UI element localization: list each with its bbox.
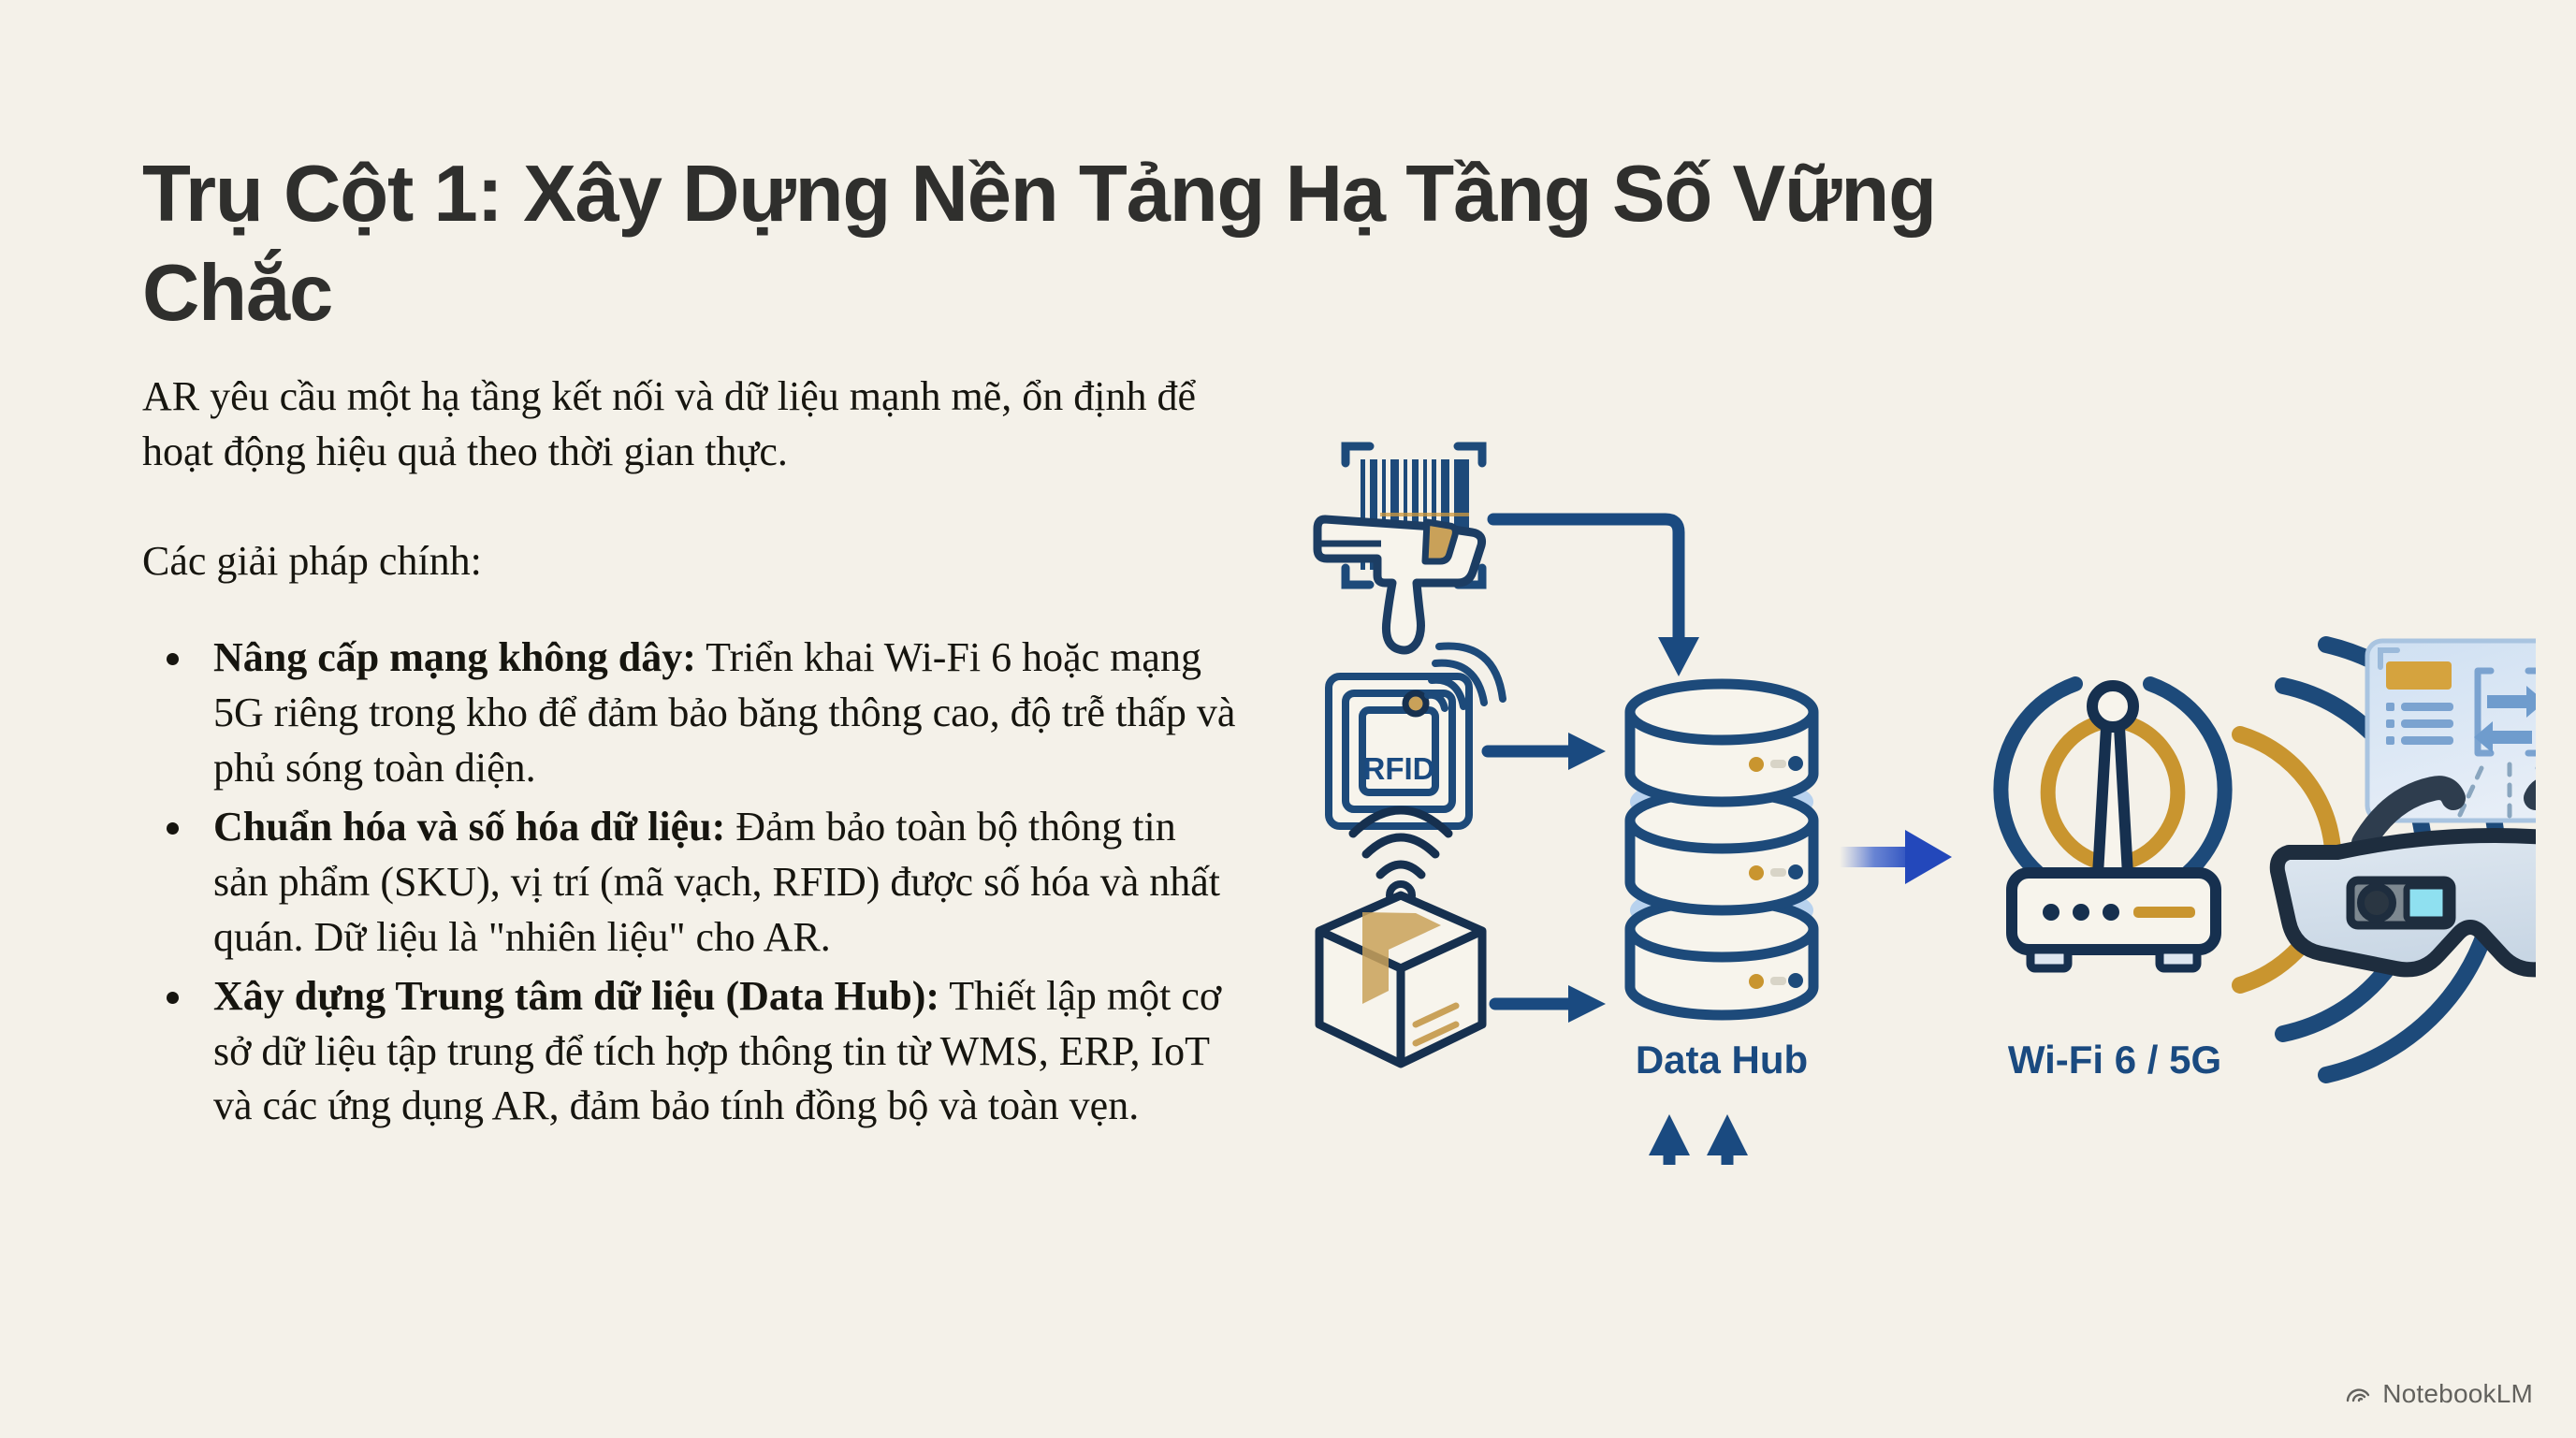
list-item: Chuẩn hóa và số hóa dữ liệu: Đảm bảo toà…	[142, 800, 1237, 966]
barcode-scanner-icon	[1317, 446, 1482, 650]
solutions-heading: Các giải pháp chính:	[142, 534, 1237, 589]
list-item: Nâng cấp mạng không dây: Triển khai Wi-F…	[142, 631, 1237, 796]
intro-paragraph: AR yêu cầu một hạ tầng kết nối và dữ liệ…	[142, 370, 1237, 480]
notebooklm-label: NotebookLM	[2382, 1379, 2533, 1409]
notebooklm-watermark: NotebookLM	[2345, 1377, 2533, 1410]
flow-arrow-hub-to-network	[1840, 830, 1952, 884]
infrastructure-diagram: RFID	[1291, 426, 2536, 1165]
flow-arrow-wms-to-hub	[1501, 1114, 1690, 1165]
bullet-dot-icon	[167, 822, 179, 835]
page-title: Trụ Cột 1: Xây Dựng Nền Tảng Hạ Tầng Số …	[142, 145, 2060, 344]
bullet-lead: Nâng cấp mạng không dây:	[213, 634, 696, 680]
iot-package-icon	[1319, 810, 1482, 1064]
content-column: AR yêu cầu một hạ tầng kết nối và dữ liệ…	[142, 370, 1237, 1138]
data-hub-label: Data Hub	[1636, 1038, 1808, 1082]
bullet-lead: Chuẩn hóa và số hóa dữ liệu:	[213, 804, 725, 850]
bullet-lead: Xây dựng Trung tâm dữ liệu (Data Hub):	[213, 973, 939, 1019]
list-item: Xây dựng Trung tâm dữ liệu (Data Hub): T…	[142, 969, 1237, 1135]
rfid-icon: RFID	[1329, 646, 1503, 826]
network-label: Wi-Fi 6 / 5G	[2008, 1038, 2221, 1082]
notebooklm-logo-icon	[2345, 1377, 2373, 1410]
rfid-label: RFID	[1363, 751, 1435, 786]
database-icon	[1630, 684, 1813, 1015]
flow-arrow-scanner-to-hub	[1493, 519, 1699, 676]
flow-arrow-package-to-hub	[1495, 985, 1606, 1023]
solutions-list: Nâng cấp mạng không dây: Triển khai Wi-F…	[142, 631, 1237, 1135]
bullet-dot-icon	[167, 653, 179, 665]
bullet-dot-icon	[167, 992, 179, 1004]
flow-arrow-erp-to-hub	[1501, 1114, 1748, 1165]
flow-arrow-rfid-to-hub	[1488, 733, 1606, 770]
